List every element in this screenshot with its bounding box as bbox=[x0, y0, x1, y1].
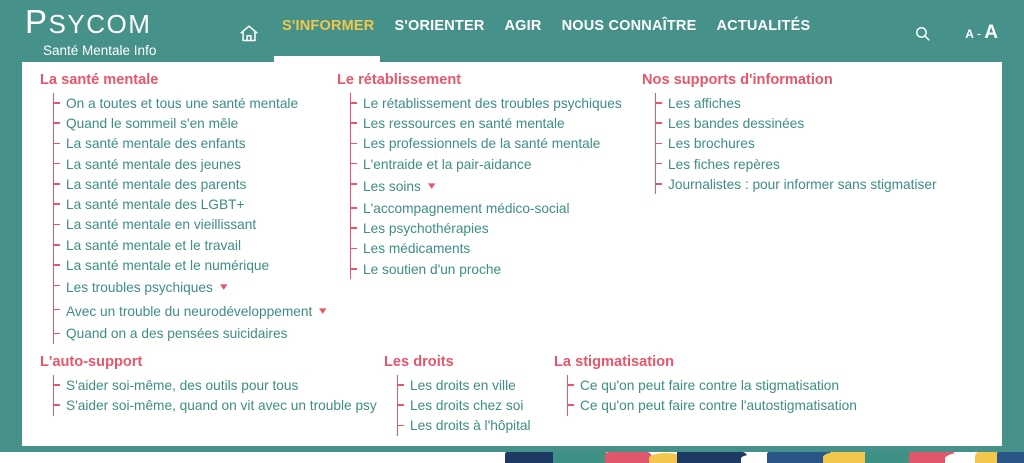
menu-link[interactable]: Les troubles psychiques bbox=[66, 280, 213, 295]
menu-link[interactable]: S'aider soi-même, des outils pour tous bbox=[66, 378, 298, 393]
list-item[interactable]: La santé mentale et le travail bbox=[54, 235, 326, 255]
list-item[interactable]: Les fiches repères bbox=[656, 154, 937, 174]
chevron-down-icon[interactable]: ▾ bbox=[220, 282, 227, 293]
list-item[interactable]: On a toutes et tous une santé mentale bbox=[54, 93, 326, 113]
header-tools: A - A bbox=[914, 0, 998, 66]
list-item[interactable]: La santé mentale des LGBT+ bbox=[54, 194, 326, 214]
menu-link[interactable]: Les brochures bbox=[668, 136, 755, 151]
list-item[interactable]: L'entraide et la pair-aidance bbox=[351, 154, 622, 174]
main-navigation: S'INFORMER S'ORIENTER AGIR NOUS CONNAÎTR… bbox=[232, 0, 820, 66]
list-item[interactable]: Quand le sommeil s'en mêle bbox=[54, 113, 326, 133]
menu-link[interactable]: Avec un trouble du neurodéveloppement bbox=[66, 304, 312, 319]
list-item[interactable]: S'aider soi-même, quand on vit avec un t… bbox=[54, 395, 377, 415]
megamenu-column-auto-support: L'auto-support S'aider soi-même, des out… bbox=[40, 354, 377, 416]
font-size-toggle[interactable]: A - A bbox=[965, 22, 998, 44]
list-item[interactable]: Le soutien d'un proche bbox=[351, 259, 622, 279]
column-title: Les droits bbox=[384, 354, 531, 370]
column-title: Le rétablissement bbox=[337, 72, 622, 88]
menu-link[interactable]: L'entraide et la pair-aidance bbox=[363, 157, 532, 172]
menu-link[interactable]: Les droits à l'hôpital bbox=[410, 418, 531, 433]
logo-rest: SYCOM bbox=[49, 9, 152, 39]
home-icon[interactable] bbox=[232, 0, 272, 66]
list-item[interactable]: Avec un trouble du neurodéveloppement▾ bbox=[54, 300, 326, 324]
menu-link[interactable]: Journalistes : pour informer sans stigma… bbox=[668, 177, 937, 192]
list-item[interactable]: La santé mentale des parents bbox=[54, 174, 326, 194]
list-item[interactable]: Les ressources en santé mentale bbox=[351, 113, 622, 133]
menu-link[interactable]: Les bandes dessinées bbox=[668, 116, 804, 131]
column-title: L'auto-support bbox=[40, 354, 377, 370]
list-item[interactable]: Les droits en ville bbox=[398, 375, 531, 395]
list-item[interactable]: Les psychothérapies bbox=[351, 218, 622, 238]
menu-link[interactable]: La santé mentale des enfants bbox=[66, 136, 246, 151]
megamenu-column-stigmatisation: La stigmatisation Ce qu'on peut faire co… bbox=[554, 354, 857, 416]
list-item[interactable]: Journalistes : pour informer sans stigma… bbox=[656, 174, 937, 194]
menu-link[interactable]: S'aider soi-même, quand on vit avec un t… bbox=[66, 398, 377, 413]
panel-frame-bottom bbox=[0, 446, 1024, 452]
logo-tagline: Santé Mentale Info bbox=[43, 43, 156, 59]
megamenu-column-supports: Nos supports d'information Les affiches … bbox=[642, 72, 937, 194]
menu-link[interactable]: Les droits chez soi bbox=[410, 398, 523, 413]
list-item[interactable]: Ce qu'on peut faire contre la stigmatisa… bbox=[568, 375, 857, 395]
font-size-separator: - bbox=[977, 26, 981, 41]
column-title: Nos supports d'information bbox=[642, 72, 937, 88]
list-item[interactable]: Ce qu'on peut faire contre l'autostigmat… bbox=[568, 395, 857, 415]
logo-wordmark: PSYCOM bbox=[25, 4, 156, 42]
megamenu-column-retablissement: Le rétablissement Le rétablissement des … bbox=[337, 72, 622, 279]
menu-link[interactable]: Les affiches bbox=[668, 96, 741, 111]
menu-link[interactable]: Quand le sommeil s'en mêle bbox=[66, 116, 238, 131]
list-item[interactable]: Les troubles psychiques▾ bbox=[54, 276, 326, 300]
list-item[interactable]: La santé mentale des jeunes bbox=[54, 154, 326, 174]
site-logo[interactable]: PSYCOM Santé Mentale Info bbox=[25, 4, 156, 59]
column-link-list: Le rétablissement des troubles psychique… bbox=[350, 93, 622, 279]
menu-link[interactable]: Le soutien d'un proche bbox=[363, 262, 501, 277]
chevron-down-icon[interactable]: ▾ bbox=[428, 181, 435, 192]
list-item[interactable]: Quand on a des pensées suicidaires bbox=[54, 324, 326, 344]
list-item[interactable]: S'aider soi-même, des outils pour tous bbox=[54, 375, 377, 395]
menu-link[interactable]: Les fiches repères bbox=[668, 157, 780, 172]
menu-link[interactable]: La santé mentale en vieillissant bbox=[66, 217, 256, 232]
list-item[interactable]: Les bandes dessinées bbox=[656, 113, 937, 133]
panel-frame-left bbox=[0, 66, 22, 452]
menu-link[interactable]: Les médicaments bbox=[363, 241, 470, 256]
list-item[interactable]: La santé mentale des enfants bbox=[54, 134, 326, 154]
nav-item-actualites[interactable]: ACTUALITÉS bbox=[706, 0, 820, 66]
nav-item-sinformer[interactable]: S'INFORMER bbox=[272, 0, 384, 66]
list-item[interactable]: Les médicaments bbox=[351, 239, 622, 259]
list-item[interactable]: La santé mentale en vieillissant bbox=[54, 215, 326, 235]
list-item[interactable]: Le rétablissement des troubles psychique… bbox=[351, 93, 622, 113]
column-link-list: S'aider soi-même, des outils pour tous S… bbox=[53, 375, 377, 416]
menu-link[interactable]: L'accompagnement médico-social bbox=[363, 201, 570, 216]
list-item[interactable]: Les brochures bbox=[656, 134, 937, 154]
list-item[interactable]: Les droits à l'hôpital bbox=[398, 416, 531, 436]
menu-link[interactable]: La santé mentale et le numérique bbox=[66, 258, 269, 273]
list-item[interactable]: Les soins▾ bbox=[351, 174, 622, 198]
search-icon[interactable] bbox=[914, 25, 931, 42]
nav-item-sorienter[interactable]: S'ORIENTER bbox=[384, 0, 494, 66]
menu-link[interactable]: Les soins bbox=[363, 179, 421, 194]
menu-link[interactable]: La santé mentale et le travail bbox=[66, 238, 241, 253]
panel-frame-right bbox=[1002, 66, 1024, 452]
list-item[interactable]: La santé mentale et le numérique bbox=[54, 255, 326, 275]
menu-link[interactable]: La santé mentale des LGBT+ bbox=[66, 197, 244, 212]
nav-item-agir[interactable]: AGIR bbox=[495, 0, 552, 66]
menu-link[interactable]: Les ressources en santé mentale bbox=[363, 116, 565, 131]
nav-item-nous-connaitre[interactable]: NOUS CONNAÎTRE bbox=[552, 0, 707, 66]
menu-link[interactable]: La santé mentale des parents bbox=[66, 177, 246, 192]
column-link-list: On a toutes et tous une santé mentale Qu… bbox=[53, 93, 326, 344]
logo-initial: P bbox=[25, 3, 49, 40]
menu-link[interactable]: La santé mentale des jeunes bbox=[66, 157, 241, 172]
menu-link[interactable]: Les psychothérapies bbox=[363, 221, 489, 236]
list-item[interactable]: L'accompagnement médico-social bbox=[351, 198, 622, 218]
list-item[interactable]: Les affiches bbox=[656, 93, 937, 113]
menu-link[interactable]: Le rétablissement des troubles psychique… bbox=[363, 96, 622, 111]
menu-link[interactable]: Les professionnels de la santé mentale bbox=[363, 136, 600, 151]
menu-link[interactable]: Quand on a des pensées suicidaires bbox=[66, 326, 287, 341]
illustration-shape bbox=[605, 451, 651, 463]
column-link-list: Ce qu'on peut faire contre la stigmatisa… bbox=[567, 375, 857, 416]
megamenu-column-droits: Les droits Les droits en ville Les droit… bbox=[384, 354, 531, 436]
list-item[interactable]: Les professionnels de la santé mentale bbox=[351, 134, 622, 154]
megamenu-column-sante-mentale: La santé mentale On a toutes et tous une… bbox=[40, 72, 326, 344]
font-size-small-label[interactable]: A bbox=[965, 27, 974, 41]
menu-link[interactable]: Les droits en ville bbox=[410, 378, 516, 393]
column-link-list: Les affiches Les bandes dessinées Les br… bbox=[655, 93, 937, 194]
megamenu-panel: La santé mentale On a toutes et tous une… bbox=[22, 62, 1002, 446]
chevron-down-icon[interactable]: ▾ bbox=[319, 306, 326, 317]
list-item[interactable]: Les droits chez soi bbox=[398, 395, 531, 415]
column-title: La santé mentale bbox=[40, 72, 326, 88]
column-link-list: Les droits en ville Les droits chez soi … bbox=[397, 375, 531, 436]
menu-link[interactable]: On a toutes et tous une santé mentale bbox=[66, 96, 298, 111]
font-size-large-label[interactable]: A bbox=[984, 22, 998, 44]
menu-link[interactable]: Ce qu'on peut faire contre la stigmatisa… bbox=[580, 378, 839, 393]
menu-link[interactable]: Ce qu'on peut faire contre l'autostigmat… bbox=[580, 398, 857, 413]
column-title: La stigmatisation bbox=[554, 354, 857, 370]
